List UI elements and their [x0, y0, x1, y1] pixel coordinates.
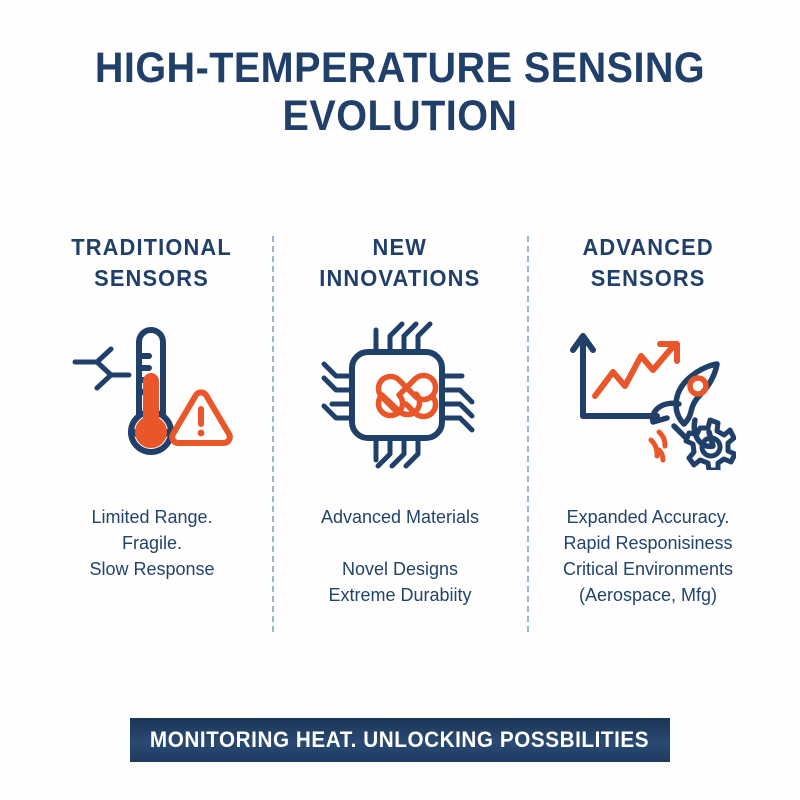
column-heading-innovations: NEW INNOVATIONS [319, 232, 480, 294]
column-heading-traditional: TRADITIONAL SENSORS [72, 232, 233, 294]
column-body-traditional: Limited Range. Fragile. Slow Response [89, 504, 214, 582]
column-body-advanced: Expanded Accuracy. Rapid Responisiness C… [563, 504, 733, 608]
icon-slot-advanced [561, 320, 736, 470]
column-heading-innovations-line-2: INNOVATIONS [319, 263, 480, 294]
column-heading-traditional-line-1: TRADITIONAL [72, 232, 233, 263]
column-heading-advanced-line-2: SENSORS [582, 263, 713, 294]
column-heading-advanced: ADVANCED SENSORS [582, 232, 713, 294]
column-body-innovations: Advanced Materials Novel Designs Extreme… [321, 504, 479, 608]
column-heading-traditional-line-2: SENSORS [72, 263, 233, 294]
page-title-line-2: EVOLUTION [87, 92, 713, 140]
icon-slot-traditional [67, 320, 237, 470]
page-title: HIGH-TEMPERATURE SENSING EVOLUTION [60, 44, 740, 140]
columns-container: TRADITIONAL SENSORS [28, 232, 772, 632]
microchip-knot-icon [320, 320, 480, 470]
thermometer-warning-icon [67, 320, 237, 470]
footer-banner: MONITORING HEAT. UNLOCKING POSSBILITIES [130, 718, 670, 762]
icon-slot-innovations [320, 320, 480, 470]
growth-rocket-gear-icon [561, 320, 736, 470]
column-heading-advanced-line-1: ADVANCED [582, 232, 713, 263]
page-title-line-1: HIGH-TEMPERATURE SENSING [87, 44, 713, 92]
infographic-canvas: HIGH-TEMPERATURE SENSING EVOLUTION TRADI… [0, 0, 800, 800]
column-advanced-sensors: ADVANCED SENSORS [524, 232, 772, 608]
column-traditional-sensors: TRADITIONAL SENSORS [28, 232, 276, 582]
footer-banner-text: MONITORING HEAT. UNLOCKING POSSBILITIES [150, 727, 649, 753]
column-heading-innovations-line-1: NEW [319, 232, 480, 263]
column-new-innovations: NEW INNOVATIONS [276, 232, 524, 608]
rocket-window [690, 378, 706, 394]
warning-exclamation-dot [198, 430, 205, 437]
